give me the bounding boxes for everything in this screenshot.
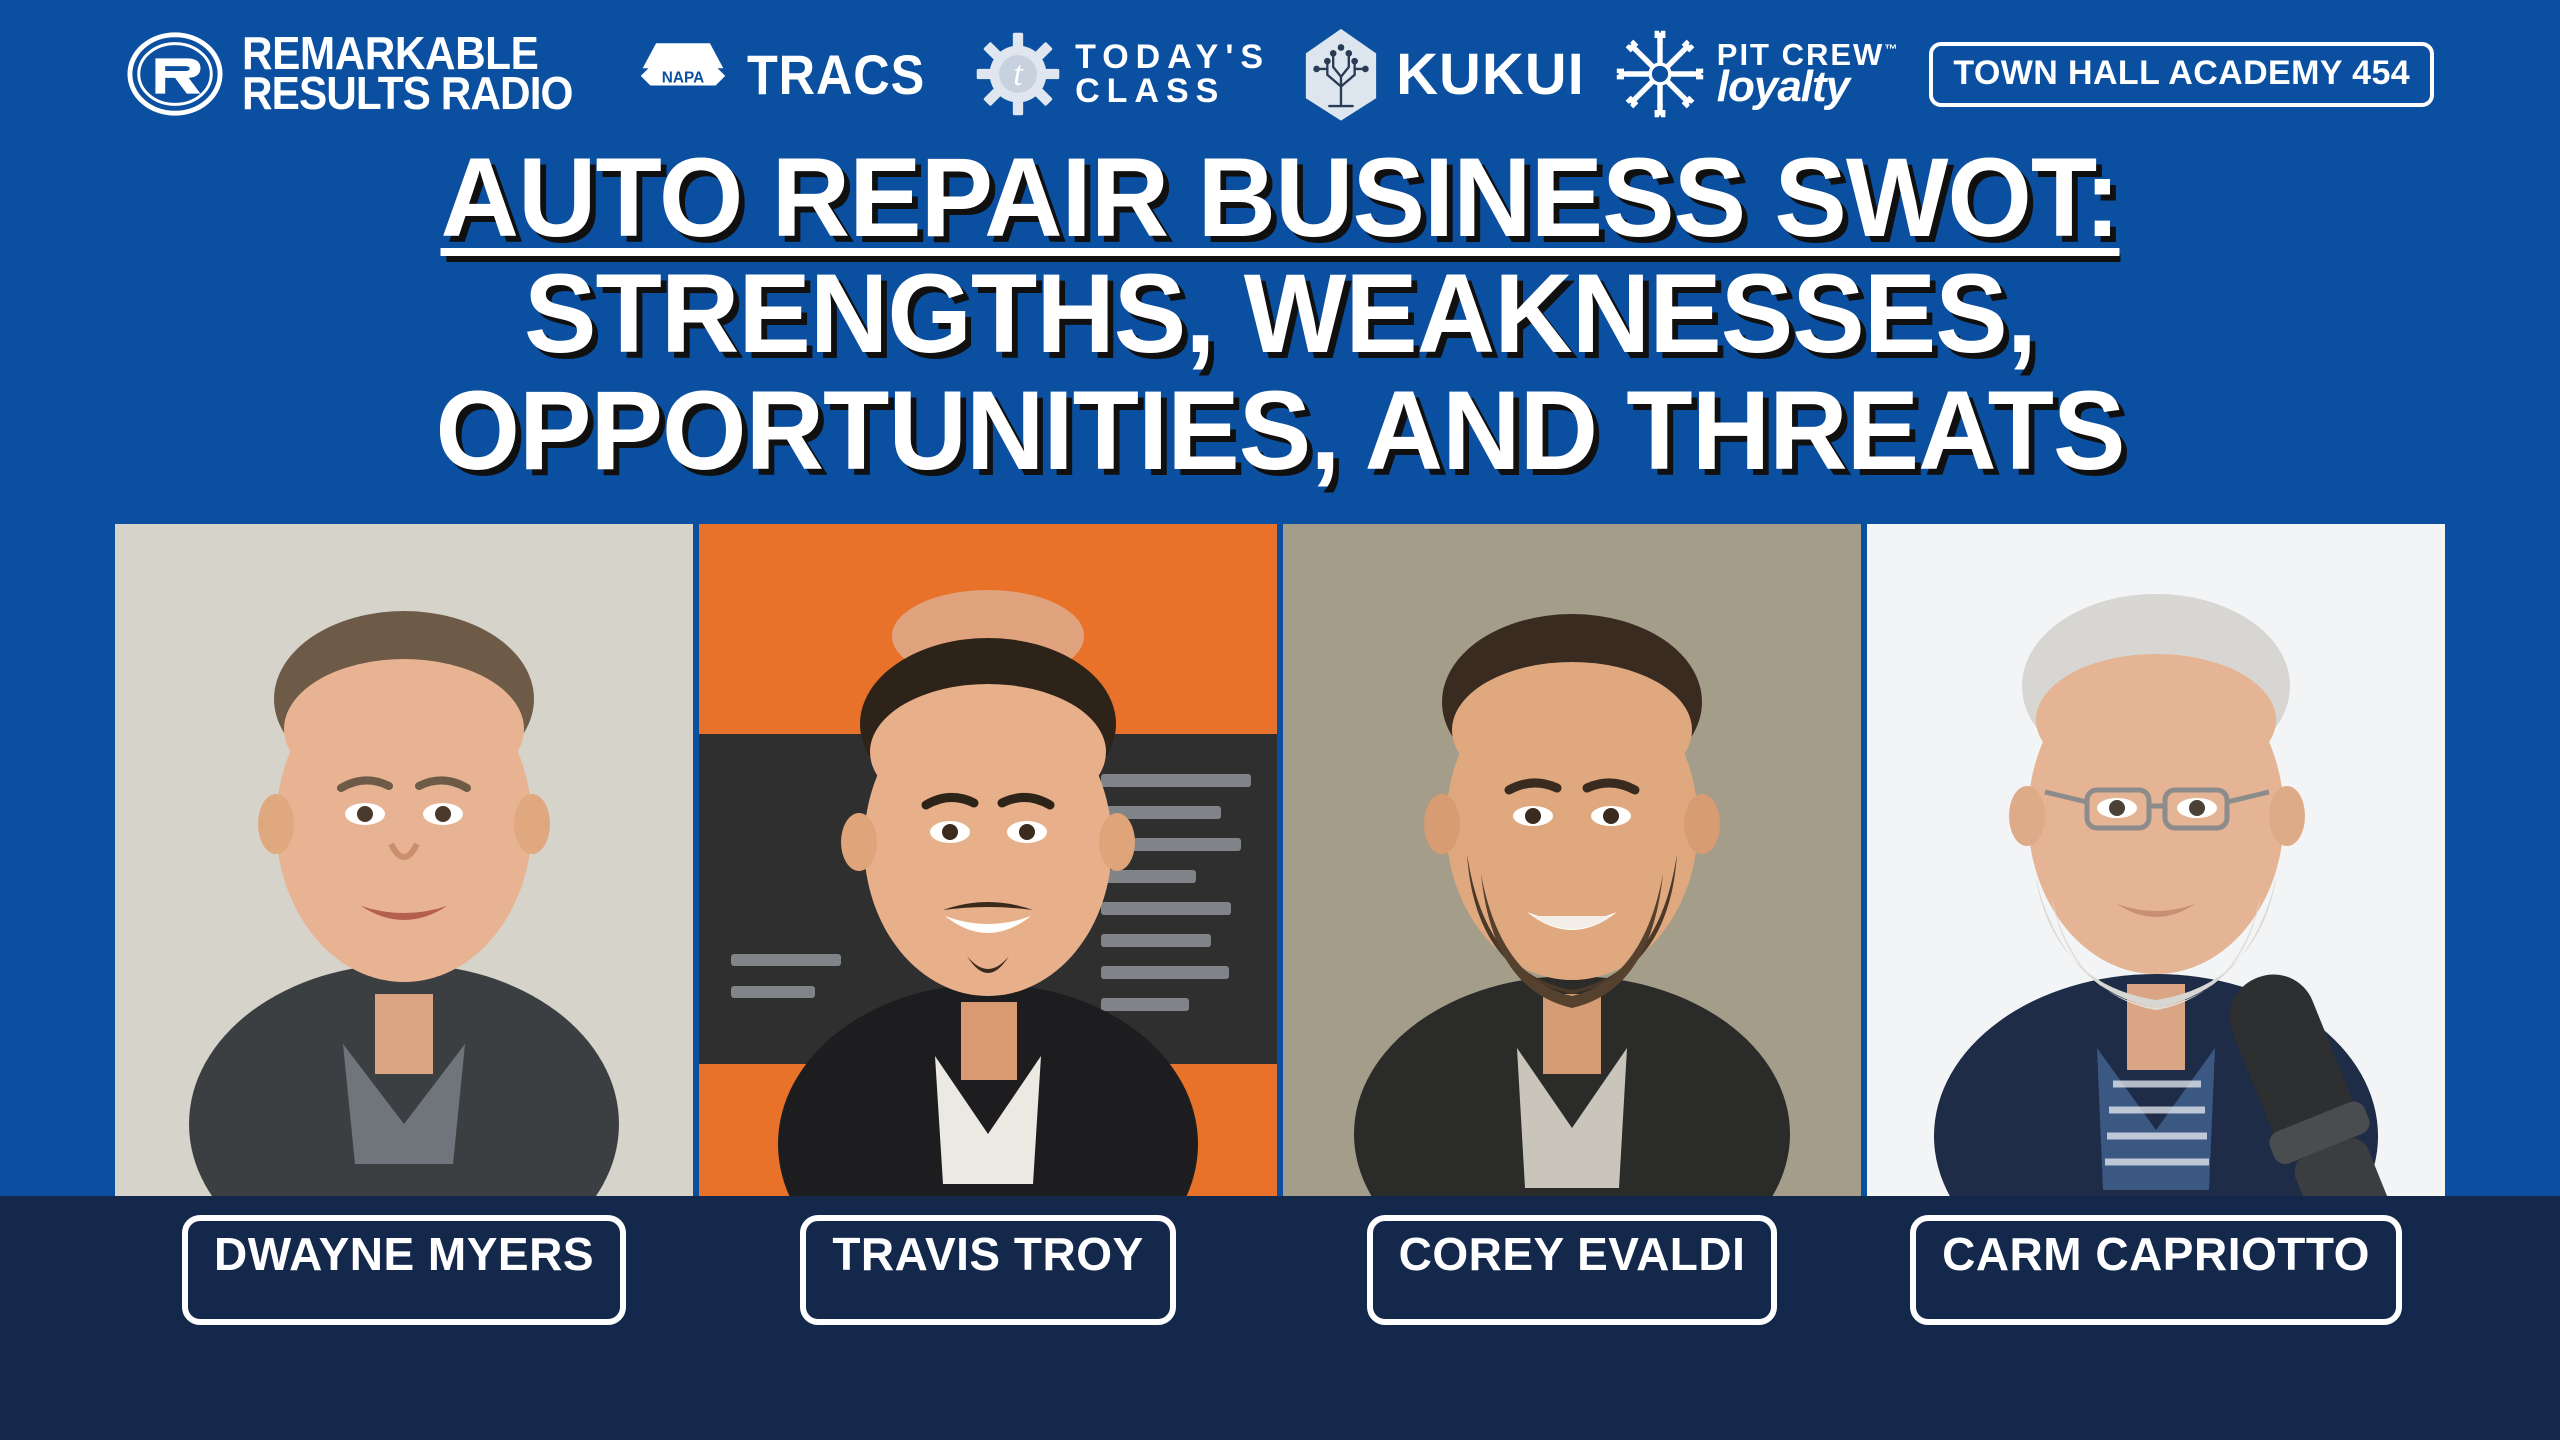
name-cell-2: TRAVIS TROY xyxy=(699,1215,1277,1325)
todays-class-wordmark: TODAY'S CLASS xyxy=(1075,40,1270,108)
kukui-label: KUKUI xyxy=(1396,41,1585,108)
title-line-2: STRENGTHS, WEAKNESSES, xyxy=(38,256,2521,372)
napa-hexagon-icon: NAPA xyxy=(635,26,731,122)
logo-remarkable-results-radio: REMARKABLE RESULTS RADIO xyxy=(126,25,601,123)
episode-title: AUTO REPAIR BUSINESS SWOT: STRENGTHS, WE… xyxy=(0,140,2560,489)
kukui-circuit-shield-icon xyxy=(1300,26,1382,122)
name-cell-1: DWAYNE MYERS xyxy=(115,1215,693,1325)
guest-photo-corey-evaldi xyxy=(1283,524,1861,1196)
pit-crew-line2: loyalty xyxy=(1717,67,1900,107)
title-line-1: AUTO REPAIR BUSINESS SWOT: xyxy=(38,140,2521,256)
logo-pit-crew-loyalty: PIT CREW™ loyalty xyxy=(1615,29,1900,119)
town-hall-academy-badge: TOWN HALL ACADEMY 454 xyxy=(1929,42,2434,107)
guest-name-badge: DWAYNE MYERS xyxy=(182,1215,626,1325)
guest-name-badge: CARM CAPRIOTTO xyxy=(1910,1215,2402,1325)
pit-crew-line1-text: PIT CREW xyxy=(1717,37,1885,72)
todays-class-line1: TODAY'S xyxy=(1075,40,1270,74)
title-line-3: OPPORTUNITIES, AND THREATS xyxy=(38,373,2521,489)
logo-kukui: KUKUI xyxy=(1300,26,1585,122)
logo-todays-class: t TODAY'S CLASS xyxy=(975,31,1270,117)
guest-photo-travis-troy xyxy=(699,524,1277,1196)
svg-text:t: t xyxy=(1013,55,1024,93)
guest-name-badge: COREY EVALDI xyxy=(1367,1215,1778,1325)
name-cell-3: COREY EVALDI xyxy=(1283,1215,1861,1325)
remarkable-r-circle-icon xyxy=(126,25,224,123)
pit-crew-line1: PIT CREW™ xyxy=(1717,41,1900,69)
sponsor-logo-bar: REMARKABLE RESULTS RADIO NAPA TRACS xyxy=(0,0,2560,148)
guest-photo-strip xyxy=(115,524,2445,1196)
pit-crew-wrench-burst-icon xyxy=(1615,29,1705,119)
poster-canvas: REMARKABLE RESULTS RADIO NAPA TRACS xyxy=(0,0,2560,1440)
guest-name-row: DWAYNE MYERS TRAVIS TROY COREY EVALDI CA… xyxy=(115,1215,2445,1325)
guest-photo-carm-capriotto xyxy=(1867,524,2445,1196)
todays-class-line2: CLASS xyxy=(1075,74,1270,108)
guest-name-badge: TRAVIS TROY xyxy=(800,1215,1175,1325)
tracs-label: TRACS xyxy=(747,42,925,107)
guest-photo-dwayne-myers xyxy=(115,524,693,1196)
remarkable-wordmark: REMARKABLE RESULTS RADIO xyxy=(242,34,601,113)
pit-crew-wordmark: PIT CREW™ loyalty xyxy=(1717,41,1900,106)
remarkable-line2: RESULTS RADIO xyxy=(242,74,573,114)
trademark-symbol: ™ xyxy=(1884,42,1899,57)
logo-napa-tracs: NAPA TRACS xyxy=(635,26,945,122)
name-cell-4: CARM CAPRIOTTO xyxy=(1867,1215,2445,1325)
svg-text:NAPA: NAPA xyxy=(662,70,704,87)
gear-t-icon: t xyxy=(975,31,1061,117)
